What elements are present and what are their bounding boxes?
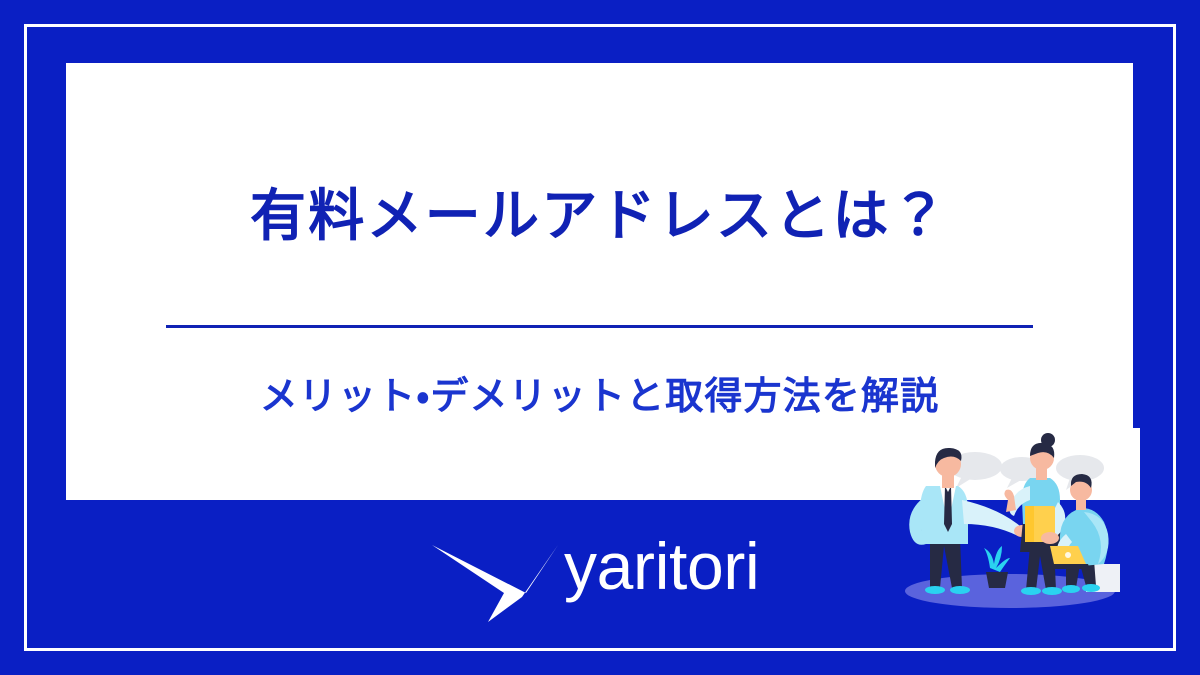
title-divider (166, 325, 1033, 328)
page-subtitle: メリット・デメリットと取得方法を解説 (66, 375, 1133, 421)
brand-wordmark: yaritori (564, 533, 759, 599)
hero-illustration: business-team-conversation-illustration (890, 428, 1140, 628)
brand-logo: yaritori (430, 527, 810, 623)
slide-canvas: 有料メールアドレスとは？ メリット・デメリットと取得方法を解説 yaritori (0, 0, 1200, 675)
page-title: 有料メールアドレスとは？ (66, 185, 1133, 247)
illustration-label: business-team-conversation-illustration (1140, 428, 1141, 429)
yaritori-bird-mark-icon (430, 531, 560, 623)
